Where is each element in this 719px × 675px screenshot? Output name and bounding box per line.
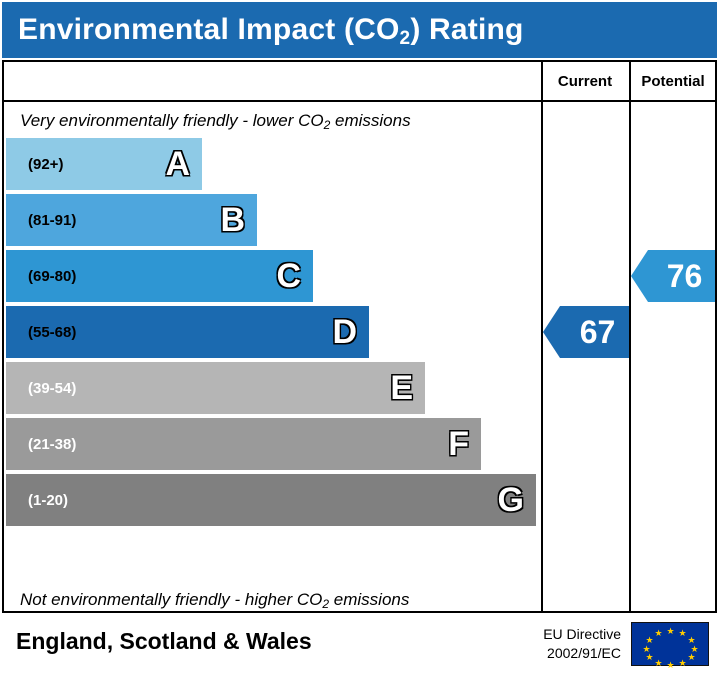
band-g-range: (1-20): [6, 492, 68, 509]
band-e-range: (39-54): [6, 380, 76, 397]
page-title-subscript: 2: [400, 28, 411, 49]
caption-top-subscript: 2: [324, 118, 331, 132]
potential-rating-value: 76: [661, 260, 703, 292]
band-g: (1-20) G: [6, 474, 536, 526]
band-b-range: (81-91): [6, 212, 76, 229]
band-c: (69-80) C: [6, 250, 313, 302]
column-header-potential: Potential: [631, 62, 715, 100]
column-separator-potential: [629, 62, 631, 611]
band-e: (39-54) E: [6, 362, 425, 414]
current-rating-marker: 67: [560, 306, 629, 358]
band-f-range: (21-38): [6, 436, 76, 453]
chart-footer: England, Scotland & Wales EU Directive 2…: [2, 615, 717, 673]
caption-bottom-prefix: Not environmentally friendly - higher CO: [20, 590, 322, 609]
current-marker-arrow-icon: [543, 306, 560, 358]
band-d-range: (55-68): [6, 324, 76, 341]
potential-marker-arrow-icon: [631, 250, 648, 302]
band-f: (21-38) F: [6, 418, 481, 470]
eu-directive-text: EU Directive 2002/91/EC: [543, 625, 621, 663]
footer-region-label: England, Scotland & Wales: [16, 628, 312, 655]
potential-rating-marker: 76: [648, 250, 715, 302]
caption-bottom-suffix: emissions: [329, 590, 409, 609]
band-d: (55-68) D: [6, 306, 369, 358]
band-a-range: (92+): [6, 156, 63, 173]
eu-directive-line1: EU Directive: [543, 625, 621, 644]
band-c-letter: C: [276, 259, 301, 293]
band-f-letter: F: [448, 427, 469, 461]
band-a: (92+) A: [6, 138, 202, 190]
eu-flag-icon: ★ ★ ★ ★ ★ ★ ★ ★ ★ ★ ★ ★: [631, 622, 709, 666]
column-header-current: Current: [541, 62, 629, 100]
caption-bottom: Not environmentally friendly - higher CO…: [20, 590, 409, 610]
page-title-prefix: Environmental Impact (CO: [18, 13, 400, 46]
band-a-letter: A: [165, 147, 190, 181]
band-b: (81-91) B: [6, 194, 257, 246]
chart-title-bar: Environmental Impact (CO2) Rating: [2, 2, 717, 58]
caption-top: Very environmentally friendly - lower CO…: [20, 111, 411, 131]
band-b-letter: B: [220, 203, 245, 237]
caption-top-prefix: Very environmentally friendly - lower CO: [20, 111, 324, 130]
epc-environmental-impact-chart: Environmental Impact (CO2) Rating Curren…: [0, 0, 719, 675]
page-title-suffix: ) Rating: [410, 13, 523, 46]
eu-directive-line2: 2002/91/EC: [543, 644, 621, 663]
caption-top-suffix: emissions: [330, 111, 410, 130]
chart-frame: Current Potential Very environmentally f…: [2, 60, 717, 613]
caption-bottom-subscript: 2: [322, 597, 329, 611]
page-title: Environmental Impact (CO2) Rating: [2, 13, 524, 47]
band-e-letter: E: [390, 371, 413, 405]
band-c-range: (69-80): [6, 268, 76, 285]
current-rating-value: 67: [574, 316, 616, 348]
header-divider: [4, 100, 715, 102]
band-d-letter: D: [332, 315, 357, 349]
band-g-letter: G: [498, 483, 524, 517]
